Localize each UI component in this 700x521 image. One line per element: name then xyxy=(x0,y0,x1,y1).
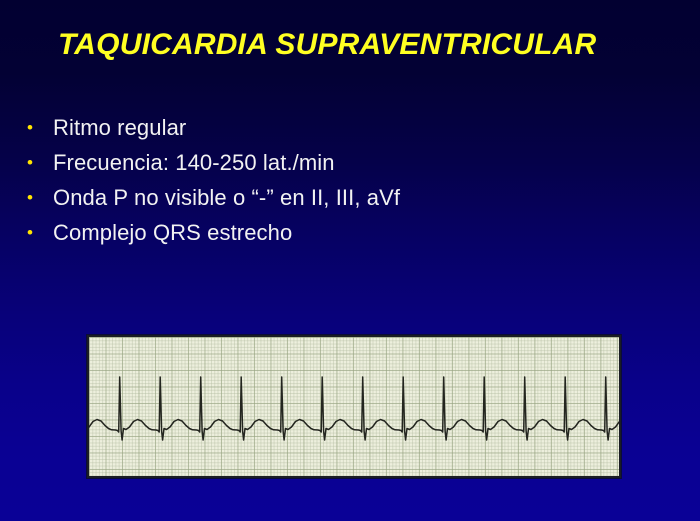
ecg-strip-frame xyxy=(87,335,621,478)
bullet-point-icon: • xyxy=(24,149,46,177)
list-item: • Frecuencia: 140-250 lat./min xyxy=(24,149,664,184)
slide-canvas: TAQUICARDIA SUPRAVENTRICULAR • Ritmo reg… xyxy=(0,0,700,521)
slide-title: TAQUICARDIA SUPRAVENTRICULAR xyxy=(58,27,668,63)
ecg-grid-paper xyxy=(89,337,619,476)
bullet-point-icon: • xyxy=(24,219,46,247)
list-item: • Ritmo regular xyxy=(24,114,664,149)
bullet-point-icon: • xyxy=(24,184,46,212)
bullet-list: • Ritmo regular • Frecuencia: 140-250 la… xyxy=(24,114,664,254)
bullet-item-label: Ritmo regular xyxy=(46,114,186,142)
bullet-item-label: Onda P no visible o “-” en II, III, aVf xyxy=(46,184,400,212)
list-item: • Complejo QRS estrecho xyxy=(24,219,664,254)
ecg-waveform xyxy=(89,337,619,476)
bullet-item-label: Complejo QRS estrecho xyxy=(46,219,292,247)
list-item: • Onda P no visible o “-” en II, III, aV… xyxy=(24,184,664,219)
bullet-item-label: Frecuencia: 140-250 lat./min xyxy=(46,149,335,177)
bullet-point-icon: • xyxy=(24,114,46,142)
